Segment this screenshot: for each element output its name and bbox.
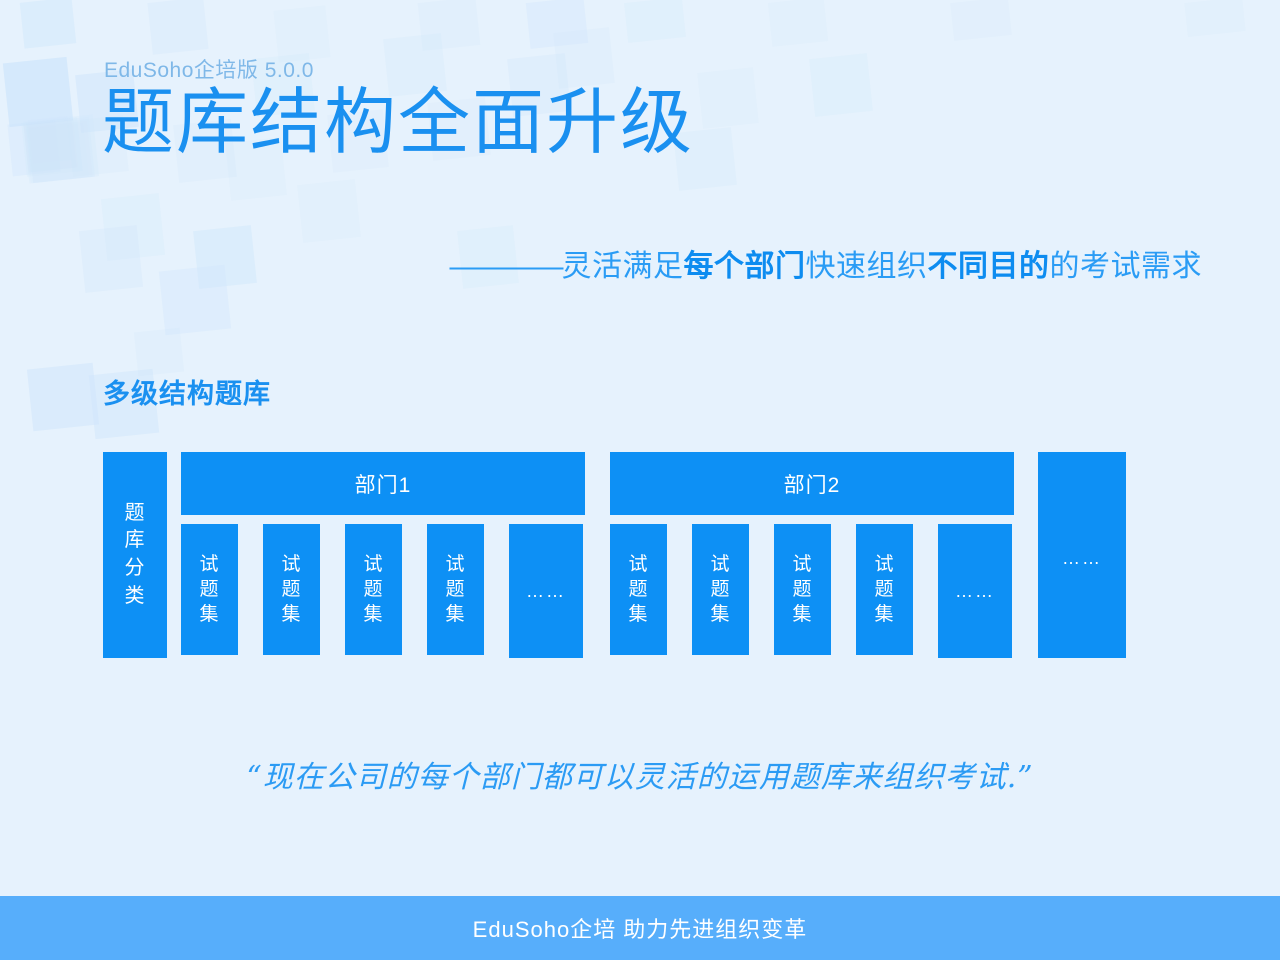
qbank-char: 试 (363, 552, 383, 577)
qbank-char: 集 (628, 602, 648, 627)
subtitle-emphasis-2: 不同目的 (928, 250, 1050, 283)
category-char: 类 (125, 583, 146, 611)
decor-square (624, 0, 686, 43)
decor-square (24, 120, 79, 173)
qbank-char: 试 (199, 552, 219, 577)
decor-square (23, 115, 99, 184)
footer-text: EduSoho企培 助力先进组织变革 (473, 912, 808, 944)
structure-diagram: 题 库 分 类 部门1 试 题 集 试 题 集 试 题 (103, 452, 1126, 658)
decor-square (134, 328, 184, 377)
subtitle-emphasis-1: 每个部门 (684, 250, 806, 283)
footer-bar: EduSoho企培 助力先进组织变革 (0, 896, 1280, 960)
decor-square (768, 0, 828, 47)
qbank-char: 集 (363, 602, 383, 627)
decor-square (3, 57, 73, 127)
qbank-char: 试 (281, 552, 301, 577)
qbank-char: 试 (792, 552, 812, 577)
decor-square (79, 225, 143, 293)
category-char: 库 (125, 527, 146, 555)
qbank-char: 集 (874, 602, 894, 627)
testimonial-quote: “现在公司的每个部门都可以灵活的运用题库来组织考试.” (0, 752, 1280, 796)
department-group: 部门2 试 题 集 试 题 集 试 题 集 试 (610, 452, 1014, 658)
decor-square (21, 117, 82, 177)
question-bank-box: 试 题 集 (263, 524, 320, 655)
qbank-char: 题 (628, 577, 648, 602)
decor-square (26, 118, 77, 173)
qbank-char: 题 (199, 577, 219, 602)
qbank-char: 试 (628, 552, 648, 577)
decor-square (27, 121, 93, 183)
qbank-char: 试 (874, 552, 894, 577)
department-header: 部门1 (181, 452, 585, 515)
decor-square (27, 363, 99, 432)
diagram-category-column: 题 库 分 类 (103, 452, 167, 658)
decor-square (20, 0, 77, 49)
decor-square (147, 0, 208, 55)
subtitle: ————灵活满足每个部门快速组织不同目的的考试需求 (450, 250, 1203, 285)
qbank-char: 题 (874, 577, 894, 602)
question-bank-box: 试 题 集 (692, 524, 749, 655)
qbank-char: 题 (445, 577, 465, 602)
qbank-char: 集 (445, 602, 465, 627)
slide-header: EduSoho企培版 5.0.0 题库结构全面升级 (102, 60, 694, 160)
decor-square (193, 225, 257, 289)
decor-square (526, 0, 588, 49)
question-bank-box: 试 题 集 (181, 524, 238, 655)
subtitle-part3: 的考试需求 (1050, 250, 1203, 283)
department-children: 试 题 集 试 题 集 试 题 集 试 题 集 (610, 524, 1014, 658)
qbank-char: 集 (710, 602, 730, 627)
department-group: 部门1 试 题 集 试 题 集 试 题 集 试 (181, 452, 585, 658)
page-title: 题库结构全面升级 (102, 87, 694, 160)
version-label: EduSoho企培版 5.0.0 (104, 60, 694, 81)
decor-square (7, 120, 60, 177)
qbank-char: 题 (363, 577, 383, 602)
decor-square (809, 53, 873, 117)
qbank-char: 集 (792, 602, 812, 627)
qbank-char: 集 (199, 602, 219, 627)
decor-square (101, 193, 165, 261)
decor-square (418, 0, 481, 51)
department-children: 试 题 集 试 题 集 试 题 集 试 题 集 (181, 524, 585, 658)
qbank-char: 题 (792, 577, 812, 602)
department-header: 部门2 (610, 452, 1014, 515)
qbank-char: 题 (710, 577, 730, 602)
decor-square (297, 179, 361, 243)
decor-square (25, 123, 88, 183)
qbank-char: 试 (710, 552, 730, 577)
section-heading: 多级结构题库 (103, 372, 271, 411)
decor-square (28, 116, 72, 164)
subtitle-dash: ———— (450, 250, 562, 283)
question-bank-box: 试 题 集 (427, 524, 484, 655)
question-bank-box: 试 题 集 (610, 524, 667, 655)
slide-root: EduSoho企培版 5.0.0 题库结构全面升级 ————灵活满足每个部门快速… (0, 0, 1280, 960)
question-bank-box: 试 题 集 (345, 524, 402, 655)
qbank-char: 试 (445, 552, 465, 577)
decor-square (1184, 0, 1245, 37)
decor-square (27, 117, 95, 183)
decor-square (950, 0, 1012, 41)
qbank-char: 集 (281, 602, 301, 627)
decor-square (697, 67, 759, 129)
more-ellipsis-box: …… (938, 524, 1012, 658)
qbank-char: 题 (281, 577, 301, 602)
subtitle-part2: 快速组织 (806, 250, 928, 283)
question-bank-box: 试 题 集 (774, 524, 831, 655)
more-departments-column: …… (1038, 452, 1126, 658)
subtitle-part1: 灵活满足 (562, 250, 684, 283)
more-ellipsis-box: …… (509, 524, 583, 658)
decor-square (273, 5, 330, 62)
question-bank-box: 试 题 集 (856, 524, 913, 655)
decor-square (159, 265, 231, 336)
category-char: 题 (125, 500, 146, 528)
category-char: 分 (125, 555, 146, 583)
